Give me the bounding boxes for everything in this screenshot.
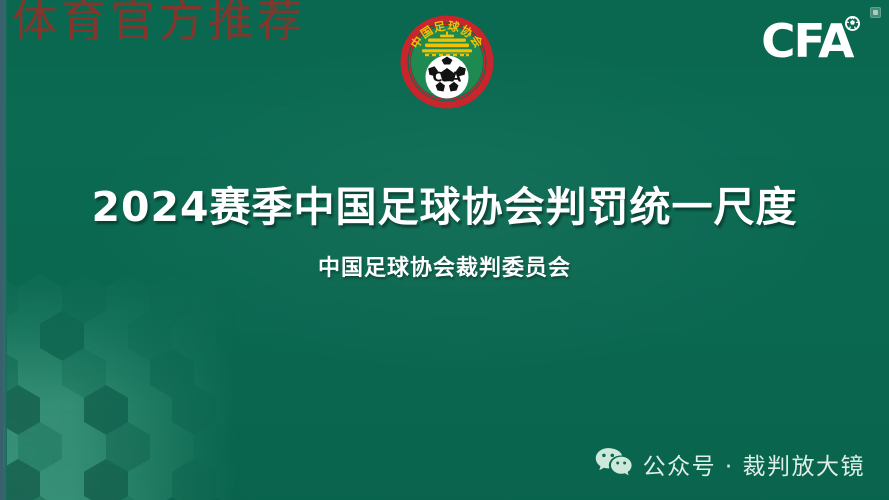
presentation-slide: 体育官方推荐 中国足球协会 — [0, 0, 889, 500]
watermark-text: 体育官方推荐 — [12, 0, 306, 46]
app-badge-icon — [870, 7, 881, 18]
page-subtitle: 中国足球协会裁判委员会 — [0, 250, 889, 282]
wechat-icon — [595, 446, 632, 482]
cfa-wordmark-text: CFA — [762, 18, 853, 64]
wechat-credit-text: 公众号 · 裁判放大镜 — [643, 447, 865, 481]
cfa-emblem: 中国足球协会 — [395, 0, 499, 126]
cfa-wordmark: CFA — [762, 18, 860, 64]
emblem-ball-text: CFA — [433, 70, 462, 86]
wechat-credit: 公众号 · 裁判放大镜 — [595, 446, 865, 482]
page-title: 2024赛季中国足球协会判罚统一尺度 — [0, 173, 889, 233]
hexagon-pattern-decoration — [0, 266, 274, 500]
